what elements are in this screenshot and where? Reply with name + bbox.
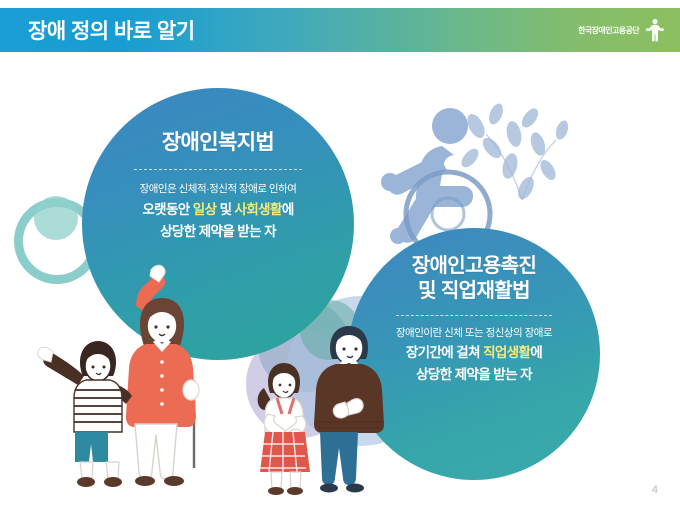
bubble-welfare-title: 장애인복지법: [162, 130, 274, 156]
bubble-employment-body-line3: 상당한 제약을 받는 자: [416, 365, 532, 385]
page-title: 장애 정의 바로 알기: [28, 15, 195, 45]
bubble-welfare-divider: [134, 169, 302, 170]
bubble-employment-title-line1: 장애인고용촉진: [412, 254, 537, 279]
welfare-line2-post: 에: [282, 202, 294, 217]
person-figure-logo-icon: [644, 18, 666, 42]
welfare-highlight-daily-life: 일상: [193, 202, 217, 217]
bubble-welfare-body-line3: 상당한 제약을 받는 자: [160, 222, 276, 242]
decor-circle-teal-small: [34, 196, 78, 240]
bubble-welfare-body-lead: 장애인은 신체적·정신적 장애로 인하여: [140, 182, 297, 198]
welfare-highlight-social-life: 사회생활: [235, 202, 282, 217]
bubble-employment-body-lead: 장애인이란 신체 또는 정신상의 장애로: [396, 326, 552, 342]
employment-line2-post: 에: [530, 345, 542, 360]
sign-language-figures-illustration: [252, 318, 412, 496]
welfare-line2-mid: 및: [216, 202, 234, 217]
slide-canvas: 장애 정의 바로 알기 한국장애인고용공단: [0, 0, 680, 510]
bubble-employment-title-line2: 및 직업재활법: [418, 279, 530, 304]
bubble-employment-divider: [396, 315, 552, 316]
slide-header: 장애 정의 바로 알기 한국장애인고용공단: [0, 8, 680, 52]
employment-highlight-work-life: 직업생활: [483, 345, 530, 360]
bubble-employment-body-line2: 장기간에 걸쳐 직업생활에: [406, 343, 542, 363]
bubble-welfare-body-line2: 오랫동안 일상 및 사회생활에: [142, 200, 293, 220]
brand-name-label: 한국장애인고용공단: [578, 25, 639, 36]
employment-line2-pre: 장기간에 걸쳐: [406, 345, 483, 360]
organization-logo: 한국장애인고용공단: [578, 18, 666, 42]
family-figures-illustration: [18, 262, 228, 492]
page-number: 4: [652, 484, 658, 496]
welfare-line2-pre: 오랫동안: [142, 202, 192, 217]
